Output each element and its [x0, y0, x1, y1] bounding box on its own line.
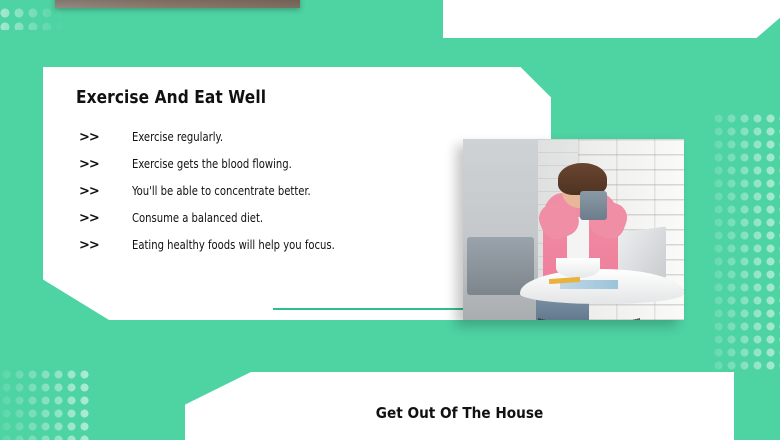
chevron-double-right-icon: >>	[79, 238, 132, 253]
list-item: >> You'll be able to concentrate better.	[79, 183, 499, 210]
list-item: >> Exercise regularly.	[79, 129, 499, 156]
halftone-dots-right-icon	[712, 112, 780, 370]
top-card	[443, 0, 780, 38]
list-item-label: Exercise gets the blood flowing.	[132, 156, 292, 171]
content-photo	[463, 139, 684, 320]
list-item-label: Consume a balanced diet.	[132, 210, 263, 225]
page-title: Exercise And Eat Well	[76, 88, 266, 108]
list-item: >> Eating healthy foods will help you fo…	[79, 237, 499, 264]
list-item: >> Consume a balanced diet.	[79, 210, 499, 237]
chevron-double-right-icon: >>	[79, 157, 132, 172]
list-item: >> Exercise gets the blood flowing.	[79, 156, 499, 183]
list-item-label: Exercise regularly.	[132, 129, 223, 144]
slide-canvas: Exercise And Eat Well >> Exercise regula…	[0, 0, 780, 440]
halftone-dots-top-left-icon	[0, 6, 64, 30]
photo-table-legs	[538, 298, 640, 320]
chevron-double-right-icon: >>	[79, 211, 132, 226]
list-item-label: You'll be able to concentrate better.	[132, 183, 311, 198]
halftone-dots-bottom-left-icon	[0, 368, 92, 440]
photo-coffee-mug	[580, 191, 607, 220]
top-photo	[55, 0, 300, 8]
bottom-card: Get Out Of The House	[185, 372, 734, 440]
chevron-double-right-icon: >>	[79, 184, 132, 199]
bullet-list: >> Exercise regularly. >> Exercise gets …	[79, 129, 499, 264]
chevron-double-right-icon: >>	[79, 130, 132, 145]
photo-person-hair	[558, 163, 607, 196]
bottom-section-title: Get Out Of The House	[218, 404, 701, 422]
list-item-label: Eating healthy foods will help you focus…	[132, 237, 335, 252]
